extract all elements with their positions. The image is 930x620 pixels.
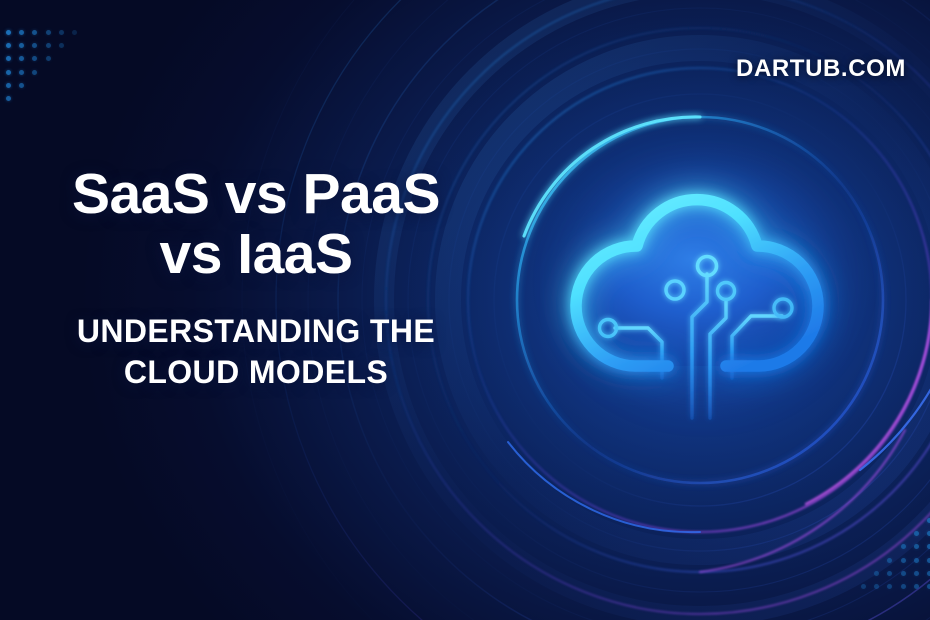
decor-dot xyxy=(32,56,37,61)
decor-dot xyxy=(914,571,919,576)
decor-dot xyxy=(19,70,24,75)
decor-dot xyxy=(6,96,11,101)
decor-dot xyxy=(32,70,37,75)
cloud-circuit-icon xyxy=(540,150,870,430)
decor-dot xyxy=(6,83,11,88)
title-line-1: SaaS vs PaaS xyxy=(72,162,440,226)
decor-dot xyxy=(72,30,77,35)
decor-dot xyxy=(901,558,906,563)
decor-dot xyxy=(914,531,919,536)
cloud-body-fill xyxy=(572,204,822,366)
decor-dot xyxy=(901,544,906,549)
decor-dot xyxy=(914,584,919,589)
decor-dot xyxy=(46,30,51,35)
decor-dot xyxy=(32,43,37,48)
decor-dot xyxy=(901,571,906,576)
decor-dot xyxy=(19,30,24,35)
decor-dot xyxy=(19,56,24,61)
subtitle-line-2: CLOUD MODELS xyxy=(0,352,512,393)
decor-dot xyxy=(874,584,879,589)
decor-dot xyxy=(46,56,51,61)
page-subtitle: UNDERSTANDING THE CLOUD MODELS xyxy=(0,311,512,393)
decor-dot xyxy=(887,571,892,576)
decor-dot xyxy=(914,544,919,549)
title-line-2: vs IaaS xyxy=(0,224,512,284)
decor-dot xyxy=(861,584,866,589)
decor-dot xyxy=(6,43,11,48)
decor-dot xyxy=(6,70,11,75)
decor-dot xyxy=(32,30,37,35)
decor-dot xyxy=(901,584,906,589)
decor-dot xyxy=(19,43,24,48)
decor-dot xyxy=(914,558,919,563)
decor-dot xyxy=(19,83,24,88)
dot-grid-top-left xyxy=(6,30,96,125)
cloud-circuit-tails xyxy=(675,366,710,426)
poster-canvas: DARTUB.COM SaaS vs PaaS vs IaaS UNDERSTA… xyxy=(0,0,930,620)
decor-dot xyxy=(6,56,11,61)
dot-grid-bottom-right xyxy=(840,518,930,610)
decor-dot xyxy=(59,30,64,35)
decor-dot xyxy=(887,584,892,589)
page-title: SaaS vs PaaS vs IaaS xyxy=(0,164,512,285)
decor-dot xyxy=(887,558,892,563)
decor-dot xyxy=(46,43,51,48)
decor-dot xyxy=(874,571,879,576)
decor-dot xyxy=(59,43,64,48)
subtitle-line-1: UNDERSTANDING THE xyxy=(77,313,435,349)
decor-dot xyxy=(6,30,11,35)
headline-block: SaaS vs PaaS vs IaaS UNDERSTANDING THE C… xyxy=(0,164,512,393)
cloud-icon-container xyxy=(540,150,870,430)
site-watermark: DARTUB.COM xyxy=(736,55,906,83)
